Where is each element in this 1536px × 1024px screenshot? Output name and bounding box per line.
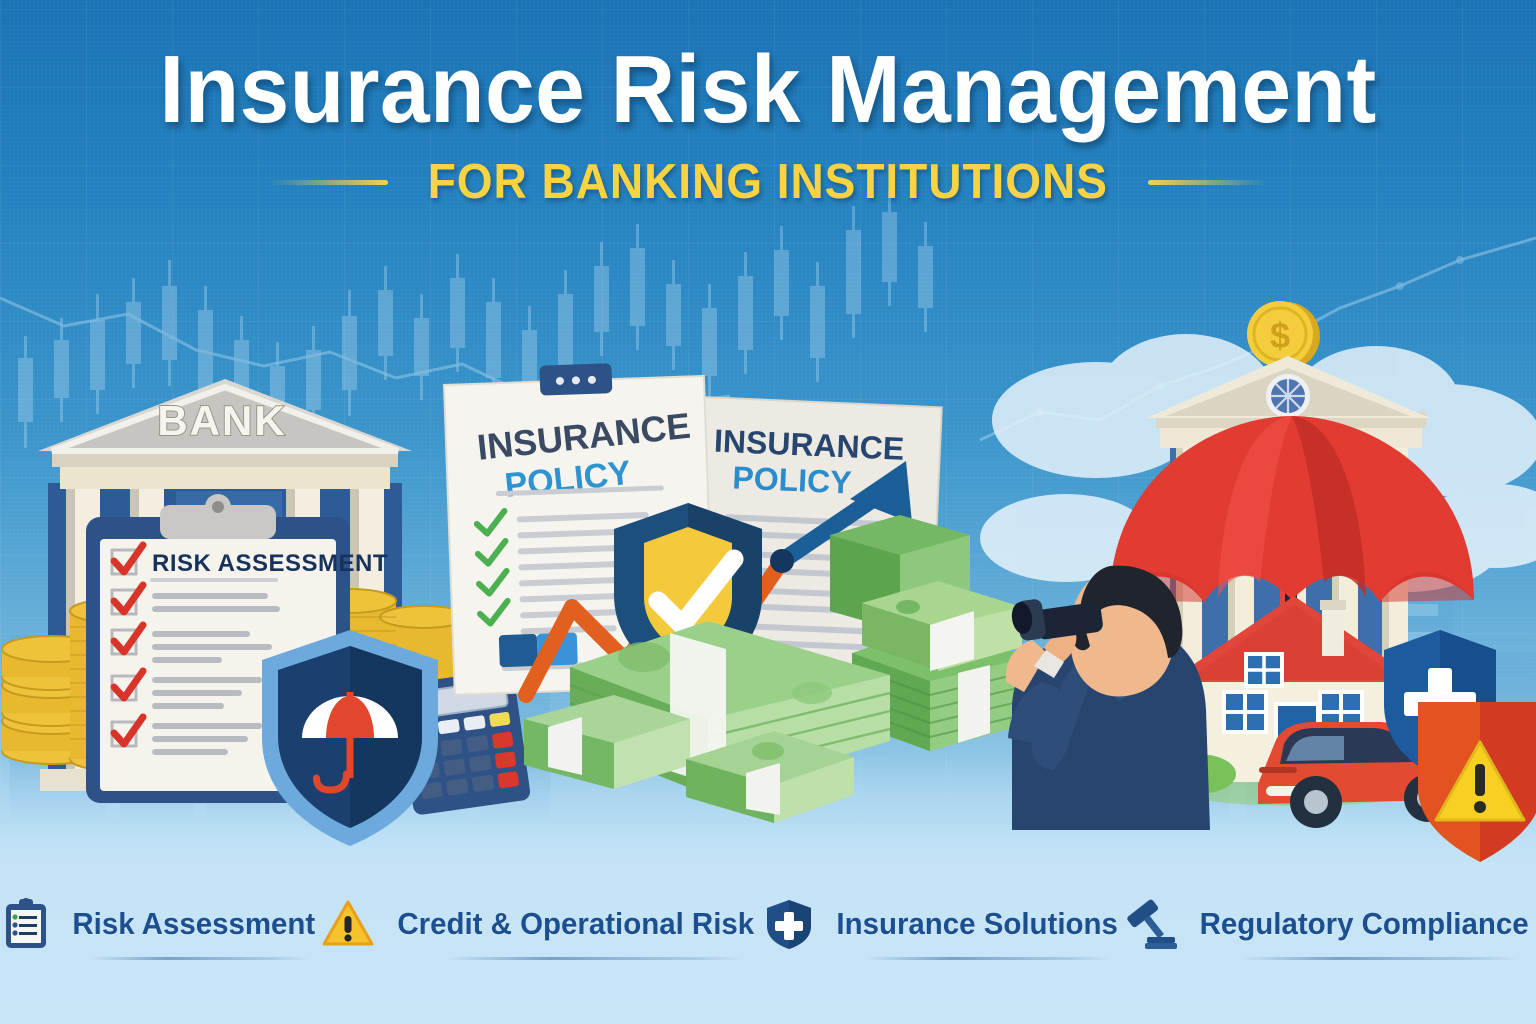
- svg-text:$: $: [1270, 315, 1290, 356]
- subtitle-row: FOR BANKING INSTITUTIONS: [0, 154, 1536, 210]
- page-title: Insurance Risk Management: [54, 42, 1482, 138]
- clipboard-heading: RISK ASSESSMENT: [152, 550, 388, 577]
- feature-label: Insurance Solutions: [837, 906, 1118, 942]
- gavel-icon: [1125, 898, 1177, 950]
- divider-left: [270, 180, 388, 185]
- feature-underline: [90, 957, 309, 960]
- feature-risk-assessment[interactable]: Risk Assessment: [0, 880, 322, 968]
- feature-strip: Risk Assessment Credit & Operational Ris…: [0, 880, 1536, 968]
- policy2-line2: POLICY: [732, 459, 853, 500]
- infographic-poster: Insurance Risk Management FOR BANKING IN…: [0, 0, 1536, 1024]
- feature-underline: [1241, 957, 1521, 960]
- feature-regulatory-compliance[interactable]: Regulatory Compliance: [1125, 880, 1536, 968]
- feature-label: Credit & Operational Risk: [397, 906, 754, 942]
- shield-cross-icon: [763, 898, 815, 950]
- poster-header: Insurance Risk Management FOR BANKING IN…: [0, 42, 1536, 210]
- page-subtitle: FOR BANKING INSTITUTIONS: [428, 154, 1108, 210]
- divider-right: [1148, 180, 1266, 185]
- scene-insurance-policies: INSURANCE POLICY INSURANCE POLICY: [430, 375, 1110, 825]
- feature-label: Regulatory Compliance: [1200, 906, 1529, 942]
- document-clip: [539, 363, 612, 395]
- bank-sign-label: BANK: [157, 397, 286, 444]
- warning-triangle-icon: [322, 898, 374, 950]
- clipboard-icon: [0, 898, 52, 950]
- feature-underline: [445, 957, 745, 960]
- feature-insurance-solutions[interactable]: Insurance Solutions: [763, 880, 1125, 968]
- feature-underline: [865, 957, 1111, 960]
- scene-insurance-protection: $: [1048, 300, 1536, 830]
- feature-label: Risk Assessment: [72, 906, 315, 942]
- umbrella-shield-icon: [262, 630, 438, 846]
- feature-credit-operational-risk[interactable]: Credit & Operational Risk: [322, 880, 764, 968]
